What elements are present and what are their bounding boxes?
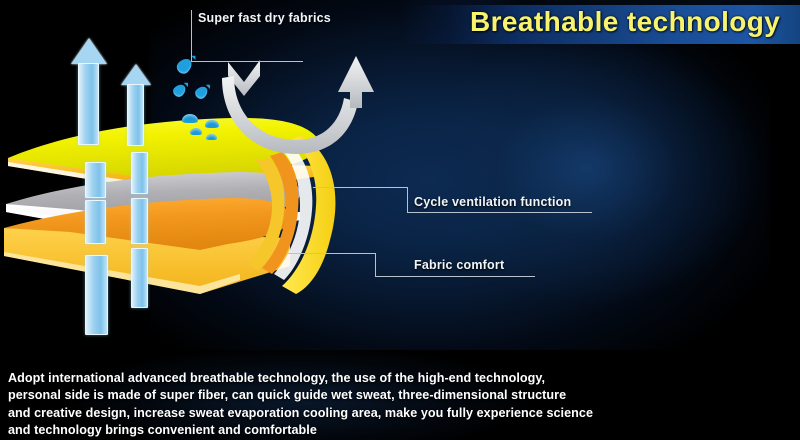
airflow-arrow-small-shaft xyxy=(127,84,144,146)
cycle-arrow-head-up xyxy=(338,56,374,108)
connector-fabric-comfort-underline xyxy=(375,276,535,277)
connector-super-fast-dry-horizontal xyxy=(191,61,303,62)
airflow-shaft-below-large-body xyxy=(85,255,108,335)
airflow-shaft-mid-small-body xyxy=(131,152,148,194)
airflow-shaft-below-small xyxy=(131,248,146,306)
airflow-arrow-small xyxy=(127,64,145,144)
airflow-shaft-below-large xyxy=(85,255,107,333)
airflow-arrow-large xyxy=(78,38,100,143)
page-title: Breathable technology xyxy=(470,2,800,42)
moisture-spot-1 xyxy=(182,114,198,123)
cycle-ventilation-arrow xyxy=(214,46,374,156)
connector-cycle-ventilation-underline xyxy=(407,212,592,213)
description-line-1: Adopt international advanced breathable … xyxy=(8,370,794,387)
airflow-shaft-inner-large-body xyxy=(85,200,106,244)
description-line-4: and technology brings convenient and com… xyxy=(8,422,794,439)
connector-fabric-comfort-lead xyxy=(286,253,375,254)
airflow-arrow-large-shaft xyxy=(78,63,99,145)
airflow-shaft-inner-small-body xyxy=(131,198,148,244)
airflow-shaft-mid-large-body xyxy=(85,162,106,198)
airflow-shaft-below-small-body xyxy=(131,248,148,308)
airflow-shaft-mid-large xyxy=(85,162,104,196)
background-glow-secondary xyxy=(420,20,800,350)
moisture-spot-4 xyxy=(206,134,217,140)
moisture-spot-3 xyxy=(190,128,202,135)
description-line-2: personal side is made of super fiber, ca… xyxy=(8,387,794,404)
airflow-shaft-inner-large xyxy=(85,200,104,242)
connector-cycle-ventilation-lead xyxy=(313,187,407,188)
description-line-3: and creative design, increase sweat evap… xyxy=(8,405,794,422)
callout-label-super-fast-dry: Super fast dry fabrics xyxy=(198,11,331,25)
breathable-technology-poster: Breathable technology xyxy=(0,0,800,440)
connector-cycle-ventilation-vertical xyxy=(407,187,408,213)
airflow-shaft-mid-small xyxy=(131,152,146,192)
airflow-shaft-inner-small xyxy=(131,198,146,242)
connector-super-fast-dry-vertical xyxy=(191,10,192,62)
description-paragraph: Adopt international advanced breathable … xyxy=(8,370,794,440)
airflow-arrow-small-head xyxy=(121,64,151,85)
callout-label-cycle-ventilation: Cycle ventilation function xyxy=(414,195,571,209)
moisture-spot-2 xyxy=(205,120,219,128)
connector-fabric-comfort-vertical xyxy=(375,253,376,277)
callout-label-fabric-comfort: Fabric comfort xyxy=(414,258,504,272)
airflow-arrow-large-head xyxy=(71,38,107,64)
